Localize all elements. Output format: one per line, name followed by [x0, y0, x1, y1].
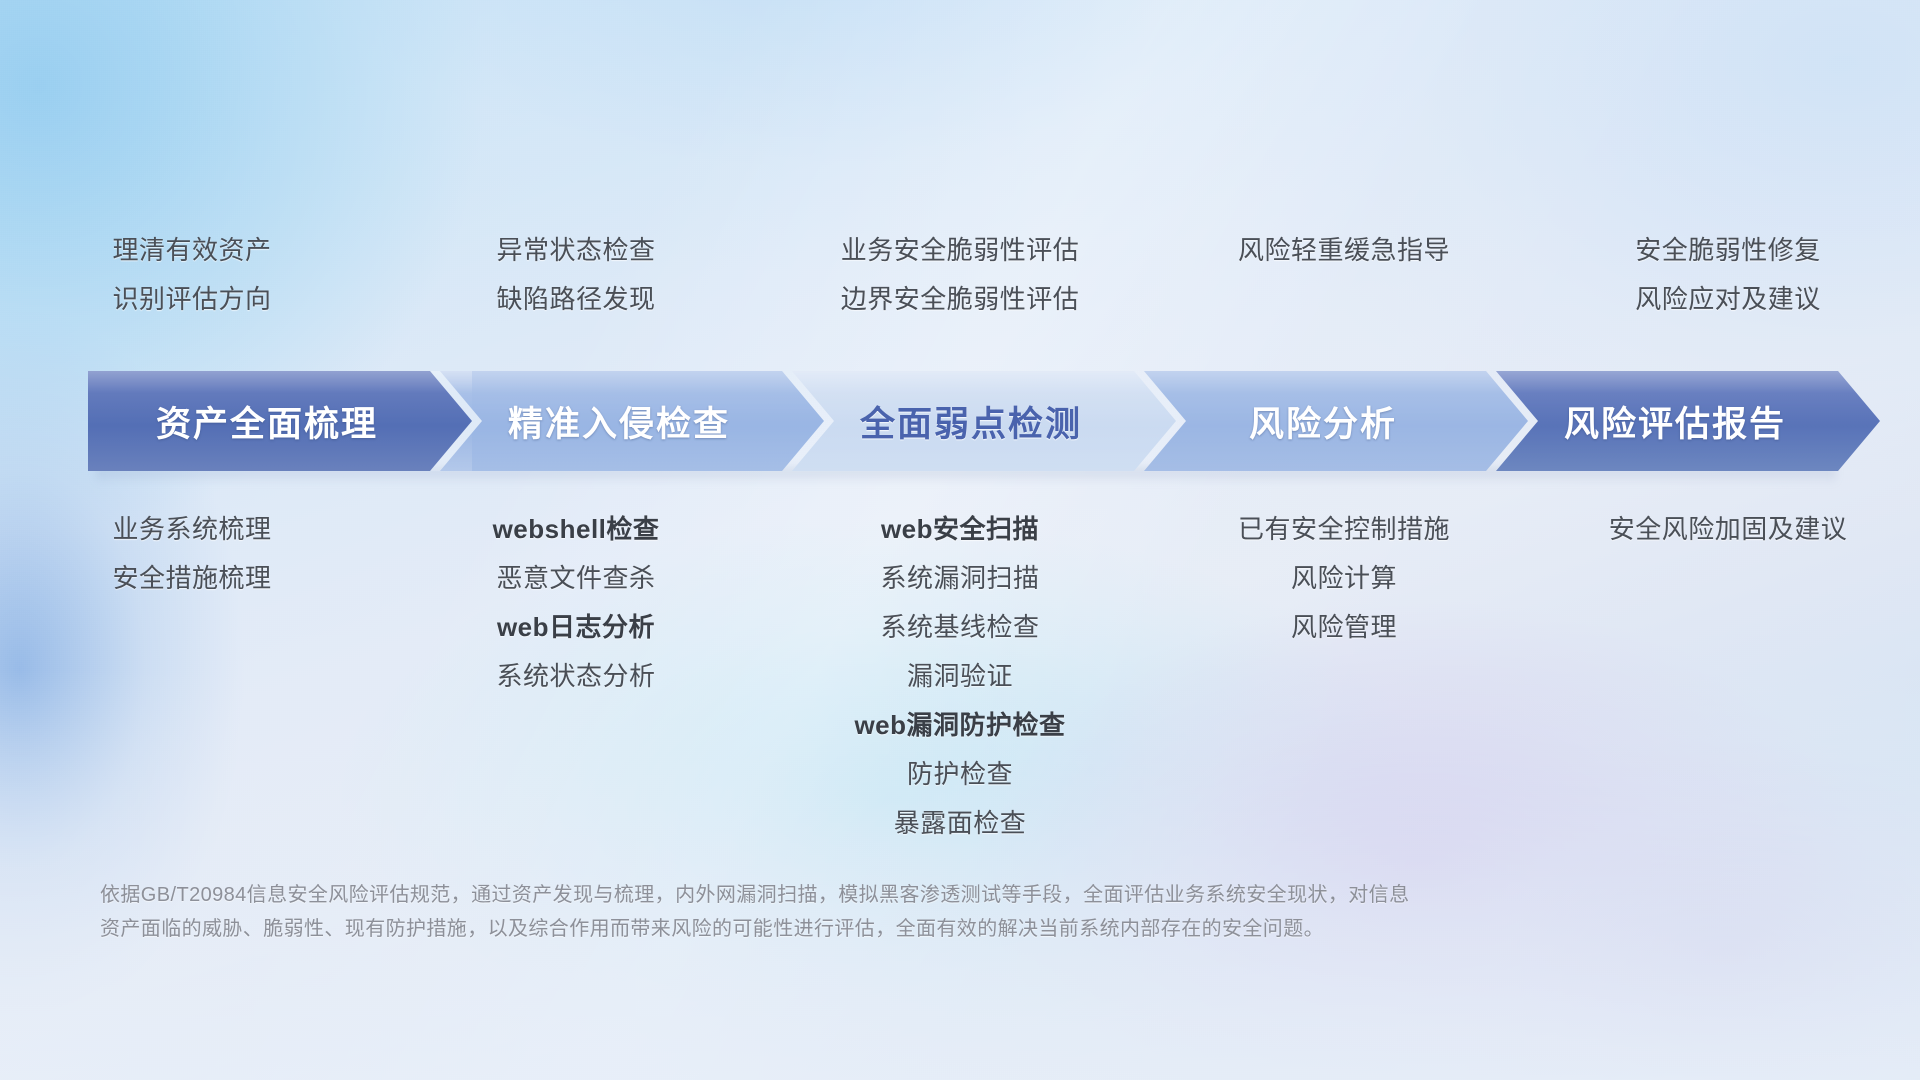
chevron-stage-1[interactable]: 资产全面梳理: [88, 371, 472, 471]
process-chevron-band: 资产全面梳理 精准入侵检查 全面弱点检测 风险分析 风险评估报告: [88, 371, 1840, 471]
list-item: 防护检查: [907, 750, 1013, 799]
list-item: 边界安全脆弱性评估: [841, 275, 1080, 324]
chevron-label: 精准入侵检查: [508, 396, 756, 447]
bottom-items-stage-1: 业务系统梳理 安全措施梳理: [0, 505, 384, 848]
list-item: 异常状态检查: [496, 226, 655, 275]
bottom-items-stage-2: webshell检查 恶意文件查杀 web日志分析 系统状态分析: [384, 505, 768, 848]
chevron-label: 全面弱点检测: [860, 396, 1108, 447]
bottom-items-stage-5: 安全风险加固及建议: [1536, 505, 1920, 848]
list-item: 风险计算: [1291, 554, 1397, 603]
list-item: web漏洞防护检查: [854, 701, 1065, 750]
list-item: 理清有效资产: [112, 226, 271, 275]
chevron-stage-3[interactable]: 全面弱点检测: [792, 371, 1176, 471]
list-item: 业务系统梳理: [112, 505, 271, 554]
top-items-stage-4: 风险轻重缓急指导: [1152, 226, 1536, 324]
chevron-label: 风险评估报告: [1564, 396, 1812, 447]
bottom-items-stage-3: web安全扫描 系统漏洞扫描 系统基线检查 漏洞验证 web漏洞防护检查 防护检…: [768, 505, 1152, 848]
list-item: 缺陷路径发现: [496, 275, 655, 324]
list-item: 系统基线检查: [880, 603, 1039, 652]
bottom-items-row: 业务系统梳理 安全措施梳理 webshell检查 恶意文件查杀 web日志分析 …: [0, 505, 1920, 848]
list-item: 风险管理: [1291, 603, 1397, 652]
list-item: webshell检查: [493, 505, 660, 554]
list-item: 识别评估方向: [112, 275, 271, 324]
footer-line-2: 资产面临的威胁、脆弱性、现有防护措施，以及综合作用而带来风险的可能性进行评估，全…: [100, 912, 1660, 946]
chevron-label: 风险分析: [1249, 396, 1423, 447]
list-item: 安全风险加固及建议: [1609, 505, 1848, 554]
list-item: 系统状态分析: [496, 652, 655, 701]
list-item: 恶意文件查杀: [496, 554, 655, 603]
bottom-items-stage-4: 已有安全控制措施 风险计算 风险管理: [1152, 505, 1536, 848]
list-item: 已有安全控制措施: [1238, 505, 1450, 554]
list-item: 暴露面检查: [894, 799, 1027, 848]
list-item: 风险应对及建议: [1635, 275, 1821, 324]
chevron-stage-2[interactable]: 精准入侵检查: [440, 371, 824, 471]
list-item: web日志分析: [497, 603, 655, 652]
list-item: web安全扫描: [881, 505, 1039, 554]
top-items-stage-5: 安全脆弱性修复 风险应对及建议: [1536, 226, 1920, 324]
list-item: 安全措施梳理: [112, 554, 271, 603]
slide-canvas: 理清有效资产 识别评估方向 异常状态检查 缺陷路径发现 业务安全脆弱性评估 边界…: [0, 0, 1920, 1080]
chevron-stage-5[interactable]: 风险评估报告: [1496, 371, 1880, 471]
list-item: 安全脆弱性修复: [1635, 226, 1821, 275]
list-item: 漏洞验证: [907, 652, 1013, 701]
list-item: 业务安全脆弱性评估: [841, 226, 1080, 275]
footer-line-1: 依据GB/T20984信息安全风险评估规范，通过资产发现与梳理，内外网漏洞扫描，…: [100, 878, 1660, 912]
chevron-label: 资产全面梳理: [156, 396, 404, 447]
list-item: 风险轻重缓急指导: [1238, 226, 1450, 275]
list-item: 系统漏洞扫描: [880, 554, 1039, 603]
top-items-stage-3: 业务安全脆弱性评估 边界安全脆弱性评估: [768, 226, 1152, 324]
top-items-stage-2: 异常状态检查 缺陷路径发现: [384, 226, 768, 324]
footer-description: 依据GB/T20984信息安全风险评估规范，通过资产发现与梳理，内外网漏洞扫描，…: [100, 878, 1660, 946]
chevron-stage-4[interactable]: 风险分析: [1144, 371, 1528, 471]
top-items-row: 理清有效资产 识别评估方向 异常状态检查 缺陷路径发现 业务安全脆弱性评估 边界…: [0, 226, 1920, 324]
top-items-stage-1: 理清有效资产 识别评估方向: [0, 226, 384, 324]
